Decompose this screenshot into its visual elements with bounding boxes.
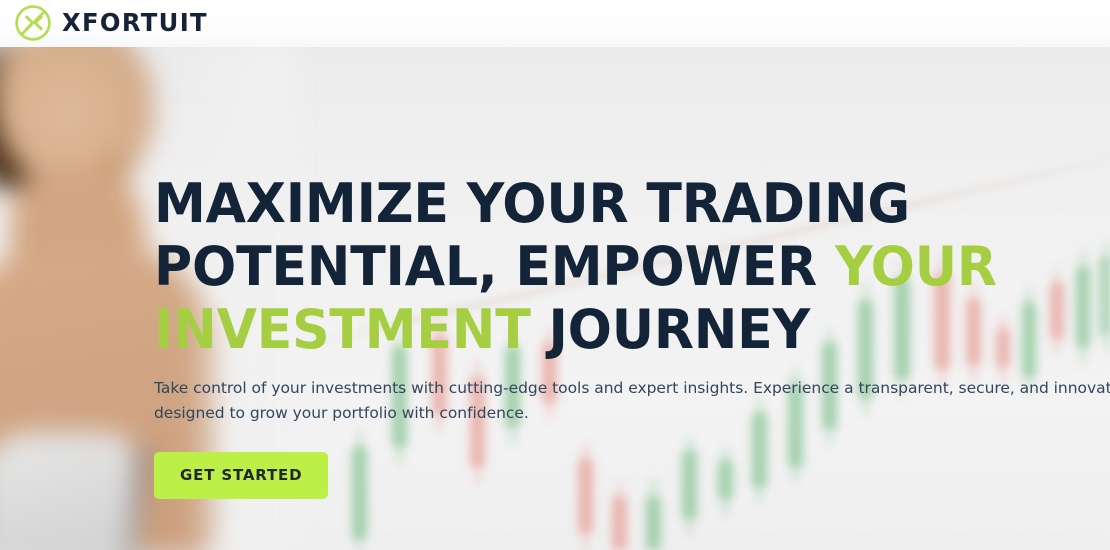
hero-description: Take control of your investments with cu… (154, 376, 1110, 426)
person-garment (0, 432, 140, 550)
headline-line1-text: MAXIMIZE YOUR TRADING (154, 172, 910, 235)
hero-description-line-1: Take control of your investments with cu… (154, 376, 1110, 401)
headline-line-1: MAXIMIZE YOUR TRADING (154, 172, 1109, 235)
headline-line3-text: JOURNEY (531, 298, 811, 361)
headline-accent-your: YOUR (835, 235, 997, 298)
xfortuit-circle-x-icon (13, 3, 53, 43)
site-header: XFORTUIT (0, 0, 1110, 47)
brand-logo[interactable]: XFORTUIT (13, 3, 212, 43)
hero-content: MAXIMIZE YOUR TRADING POTENTIAL, EMPOWER… (154, 47, 1110, 499)
brand-name: XFORTUIT (62, 10, 208, 35)
headline-line-2: POTENTIAL, EMPOWER YOUR (154, 235, 1109, 298)
hero-section: MAXIMIZE YOUR TRADING POTENTIAL, EMPOWER… (0, 47, 1110, 550)
get-started-button[interactable]: GET STARTED (154, 452, 328, 499)
page-title: MAXIMIZE YOUR TRADING POTENTIAL, EMPOWER… (154, 172, 1109, 361)
headline-line2-text: POTENTIAL, EMPOWER (154, 235, 835, 298)
headline-accent-investment: INVESTMENT (154, 298, 531, 361)
hero-description-line-2: designed to grow your portfolio with con… (154, 401, 1110, 426)
landing-page: XFORTUIT MAXIMIZE YOUR TRADING POTENTI (0, 0, 1110, 550)
headline-line-3: INVESTMENT JOURNEY (154, 298, 1109, 361)
